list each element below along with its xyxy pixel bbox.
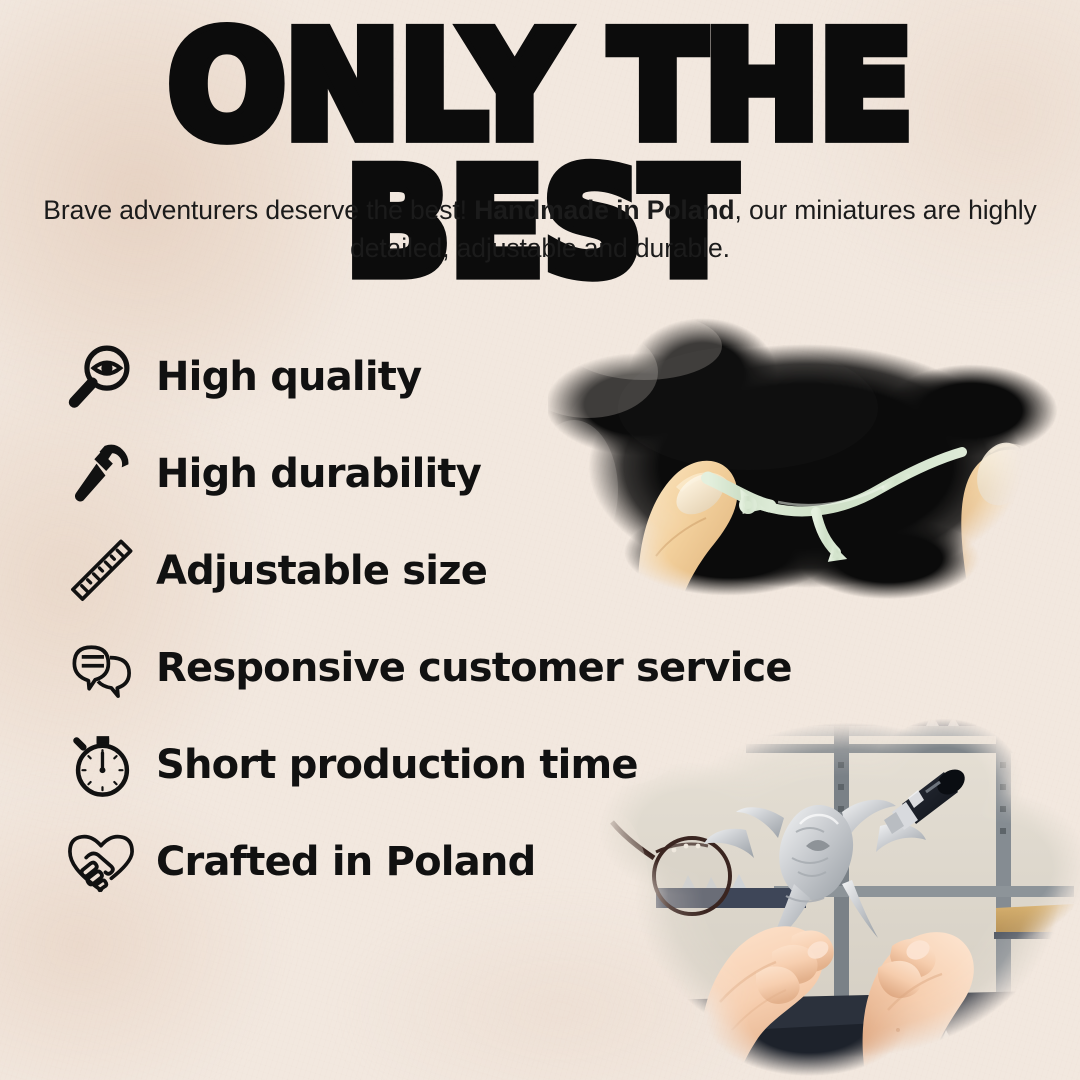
subtitle: Brave adventurers deserve the best! Hand… (0, 192, 1080, 267)
stopwatch-icon (62, 726, 140, 804)
hammer-icon (62, 435, 140, 513)
subtitle-emphasis: Handmade in Poland (474, 195, 734, 225)
promo-poster: ONLY THE BEST Brave adventurers deserve … (0, 0, 1080, 1080)
feature-label: High quality (156, 354, 421, 400)
speech-bubbles-icon (62, 629, 140, 707)
feature-label: Adjustable size (156, 548, 487, 594)
painting-workshop-photo (596, 700, 1080, 1080)
heart-handshake-icon (62, 823, 140, 901)
feature-label: Responsive customer service (156, 645, 792, 691)
magnifier-eye-icon (62, 338, 140, 416)
subtitle-lead: Brave adventurers deserve the best! (43, 195, 474, 225)
feature-label: Crafted in Poland (156, 839, 535, 885)
ruler-icon (62, 532, 140, 610)
feature-label: High durability (156, 451, 481, 497)
feature-label: Short production time (156, 742, 638, 788)
flexible-miniature-photo (548, 312, 1064, 620)
